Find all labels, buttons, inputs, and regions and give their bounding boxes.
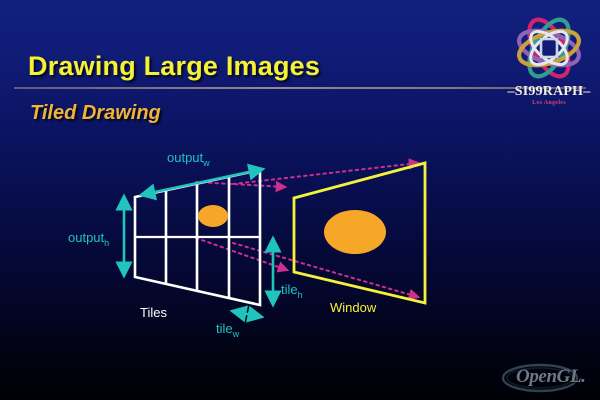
label-tile-height-sub: h [298, 290, 303, 300]
measure-arrows [124, 169, 273, 317]
label-output-width-sub: w [202, 158, 210, 168]
tile-width-arrow [232, 311, 262, 317]
label-output-width: outputw [167, 150, 210, 168]
label-tile-width-sub: w [232, 329, 240, 339]
label-output-height-base: output [68, 230, 105, 245]
label-window: Window [330, 300, 377, 315]
slide-canvas: Drawing Large Images Tiled Drawing –SI99… [0, 0, 600, 400]
label-tile-height: tileh [281, 282, 303, 300]
tiled-drawing-diagram: outputw outputh tilew tileh Tiles Window [0, 0, 600, 400]
label-tiles: Tiles [140, 305, 167, 320]
label-output-width-base: output [167, 150, 204, 165]
label-tile-height-base: tile [281, 282, 298, 297]
label-output-height: outputh [68, 230, 109, 248]
tile-content-ellipse [198, 205, 228, 227]
window-content-ellipse [324, 210, 386, 254]
tiles-trapezoid [135, 170, 260, 305]
label-tile-width: tilew [216, 321, 240, 339]
label-tile-width-base: tile [216, 321, 233, 336]
output-width-arrow [141, 169, 263, 195]
label-output-height-sub: h [104, 238, 109, 248]
